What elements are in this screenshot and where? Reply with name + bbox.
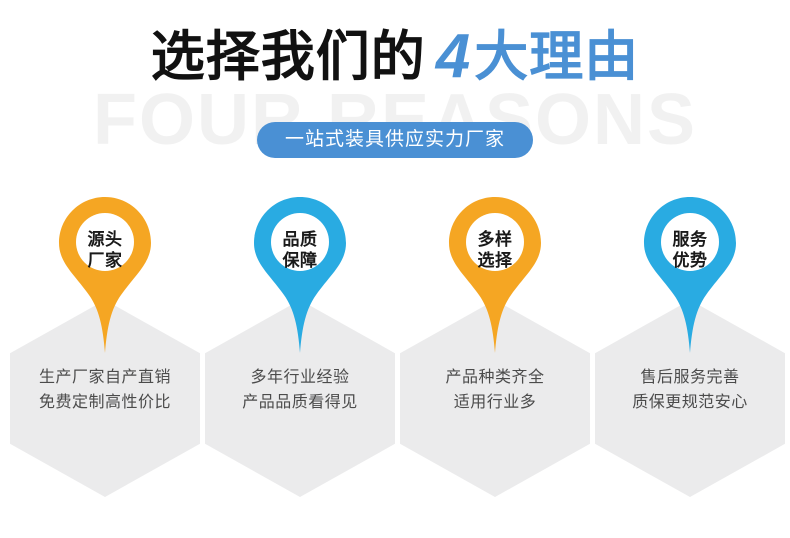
reason-card: 售后服务完善 质保更规范安心 服务 优势 <box>595 195 785 505</box>
pin-label-line1: 多样 <box>445 229 545 250</box>
pin-label-line2: 厂家 <box>55 250 155 271</box>
reason-description: 产品种类齐全 适用行业多 <box>400 365 590 415</box>
reason-description-line1: 售后服务完善 <box>595 365 785 390</box>
reason-card: 产品种类齐全 适用行业多 多样 选择 <box>400 195 590 505</box>
reason-card: 生产厂家自产直销 免费定制高性价比 源头 厂家 <box>10 195 200 505</box>
pin-label-line2: 保障 <box>250 250 350 271</box>
reason-description-line1: 多年行业经验 <box>205 365 395 390</box>
title-number: 4 <box>426 22 474 91</box>
reason-description-line2: 免费定制高性价比 <box>10 390 200 415</box>
reason-description-line2: 产品品质看得见 <box>205 390 395 415</box>
reason-description-line2: 质保更规范安心 <box>595 390 785 415</box>
reason-card: 多年行业经验 产品品质看得见 品质 保障 <box>205 195 395 505</box>
pin-label: 服务 优势 <box>640 229 740 271</box>
subtitle-pill: 一站式装具供应实力厂家 <box>257 122 533 158</box>
pin-label: 品质 保障 <box>250 229 350 271</box>
map-pin-icon: 服务 优势 <box>640 195 740 355</box>
reason-description: 售后服务完善 质保更规范安心 <box>595 365 785 415</box>
title-blue-text: 大理由 <box>474 27 639 87</box>
pin-label: 多样 选择 <box>445 229 545 271</box>
pin-label-line2: 优势 <box>640 250 740 271</box>
reason-description-line1: 生产厂家自产直销 <box>10 365 200 390</box>
reason-description-line1: 产品种类齐全 <box>400 365 590 390</box>
reason-description: 生产厂家自产直销 免费定制高性价比 <box>10 365 200 415</box>
reasons-card-list: 生产厂家自产直销 免费定制高性价比 源头 厂家 多年行业经验 产品品质看得见 <box>0 195 790 505</box>
pin-label-line1: 服务 <box>640 229 740 250</box>
map-pin-icon: 源头 厂家 <box>55 195 155 355</box>
pin-label-line2: 选择 <box>445 250 545 271</box>
reason-description-line2: 适用行业多 <box>400 390 590 415</box>
pin-label-line1: 源头 <box>55 229 155 250</box>
header-section: FOUR REASONS 选择我们的4大理由 一站式装具供应实力厂家 <box>0 0 790 180</box>
page-title: 选择我们的4大理由 <box>0 26 790 88</box>
title-black-text: 选择我们的 <box>151 27 426 87</box>
subtitle-pill-wrapper: 一站式装具供应实力厂家 <box>0 122 790 158</box>
map-pin-icon: 多样 选择 <box>445 195 545 355</box>
map-pin-icon: 品质 保障 <box>250 195 350 355</box>
pin-label: 源头 厂家 <box>55 229 155 271</box>
pin-label-line1: 品质 <box>250 229 350 250</box>
promo-banner: FOUR REASONS 选择我们的4大理由 一站式装具供应实力厂家 生产厂家自… <box>0 0 790 538</box>
reason-description: 多年行业经验 产品品质看得见 <box>205 365 395 415</box>
